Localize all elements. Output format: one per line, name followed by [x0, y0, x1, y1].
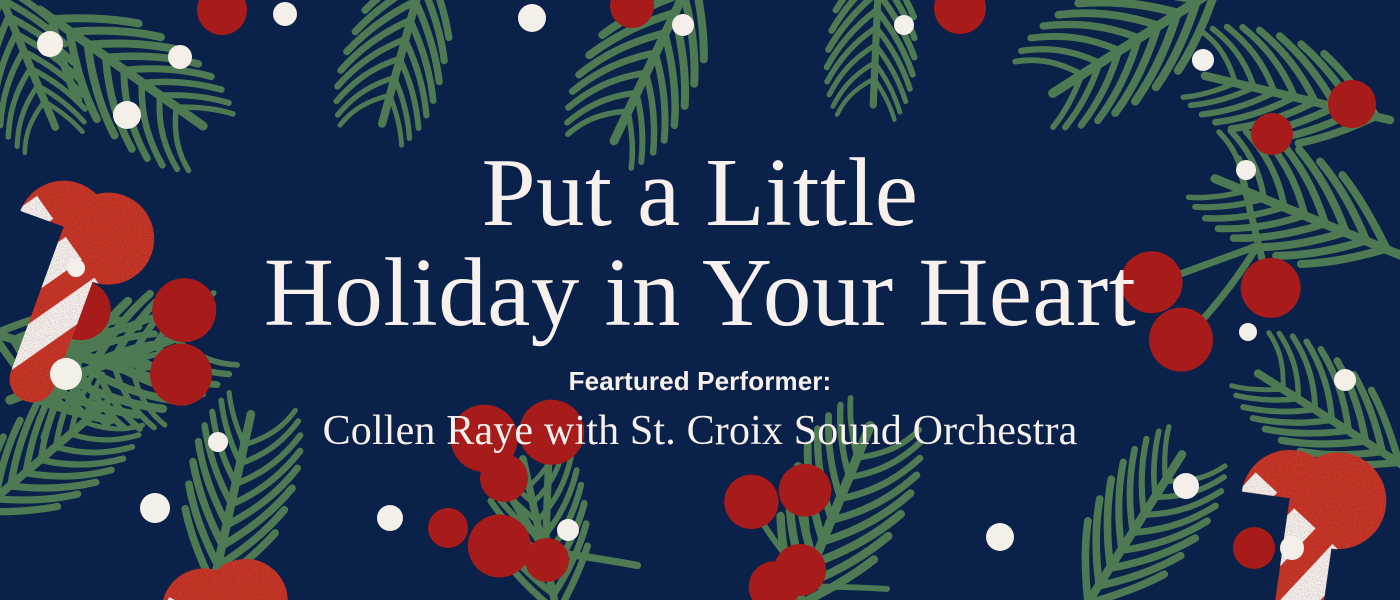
performer-name: Collen Raye with St. Croix Sound Orchest…: [323, 407, 1078, 455]
holiday-banner: Put a Little Holiday in Your Heart Feart…: [0, 0, 1400, 600]
page-title-line-2: Holiday in Your Heart: [264, 245, 1136, 340]
banner-text-block: Put a Little Holiday in Your Heart Feart…: [0, 0, 1400, 600]
featured-performer-label: Feartured Performer:: [569, 366, 832, 397]
page-title-line-1: Put a Little: [482, 145, 919, 240]
